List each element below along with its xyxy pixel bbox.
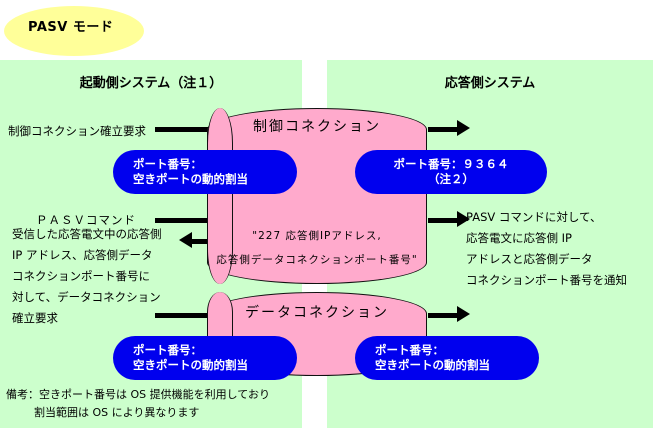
note-line: コネクションポート番号を通知 <box>466 270 627 291</box>
pasv-out-line <box>428 218 458 223</box>
control-port-pill-initiator: ポート番号： 空きポートの動的割当 <box>113 150 297 194</box>
note-line: PASV コマンドに対して、 <box>466 207 627 228</box>
page-title: PASV モード <box>28 16 140 35</box>
note-remark: 備考：空きポート番号は OS 提供機能を利用しており 割当範囲は OS により異… <box>6 386 270 422</box>
pill-line-2: 空きポートの動的割当 <box>375 358 490 373</box>
control-out-line <box>428 127 458 132</box>
control-port-pill-responder: ポート番号：９３６４ （注２） <box>355 150 547 194</box>
note-initiator-description: 受信した応答電文中の応答側 IP アドレス、応答側データ コネクションポート番号… <box>12 224 162 329</box>
arrow-right-icon <box>457 306 470 322</box>
data-connection-label: データコネクション <box>207 302 427 322</box>
diagram-canvas: PASV モード 起動側システム（注１） 応答側システム 制御コネクション "2… <box>0 0 653 428</box>
pill-line-2: 空きポートの動的割当 <box>133 172 248 187</box>
note-line: 確立要求 <box>12 308 162 329</box>
note-line: アドレスと応答側データ <box>466 249 627 270</box>
control-message-line1: "227 応答側IPアドレス, <box>207 228 427 243</box>
remark-line-1: 備考：空きポート番号は OS 提供機能を利用しており <box>6 386 270 404</box>
note-line: 受信した応答電文中の応答側 <box>12 224 162 245</box>
note-line: 応答電文に応答側 IP <box>466 228 627 249</box>
pill-line-1: ポート番号： <box>133 343 202 358</box>
data-out-line <box>428 313 458 318</box>
pill-line-1: ポート番号：９３６４ <box>394 157 509 172</box>
note-line: 対して、データコネクション <box>12 287 162 308</box>
data-port-pill-initiator: ポート番号： 空きポートの動的割当 <box>113 336 297 380</box>
arrow-right-icon <box>457 120 470 136</box>
note-line: IP アドレス、応答側データ <box>12 245 162 266</box>
arrow-left-icon <box>179 232 192 248</box>
remark-line-2: 割当範囲は OS により異なります <box>6 404 270 422</box>
pill-line-2: （注２） <box>428 172 474 187</box>
data-port-pill-responder: ポート番号： 空きポートの動的割当 <box>355 336 539 380</box>
pill-line-1: ポート番号： <box>133 157 202 172</box>
control-connection-label: 制御コネクション <box>207 116 427 136</box>
note-responder-description: PASV コマンドに対して、 応答電文に応答側 IP アドレスと応答側データ コ… <box>466 207 627 291</box>
control-message-line2: 応答側データコネクションポート番号" <box>197 252 437 267</box>
note-control-request: 制御コネクション確立要求 <box>8 121 146 142</box>
responder-system-title: 応答側システム <box>327 72 653 91</box>
initiator-system-title: 起動側システム（注１） <box>0 72 302 91</box>
pill-line-1: ポート番号： <box>375 343 444 358</box>
pill-line-2: 空きポートの動的割当 <box>133 358 248 373</box>
note-line: コネクションポート番号に <box>12 266 162 287</box>
